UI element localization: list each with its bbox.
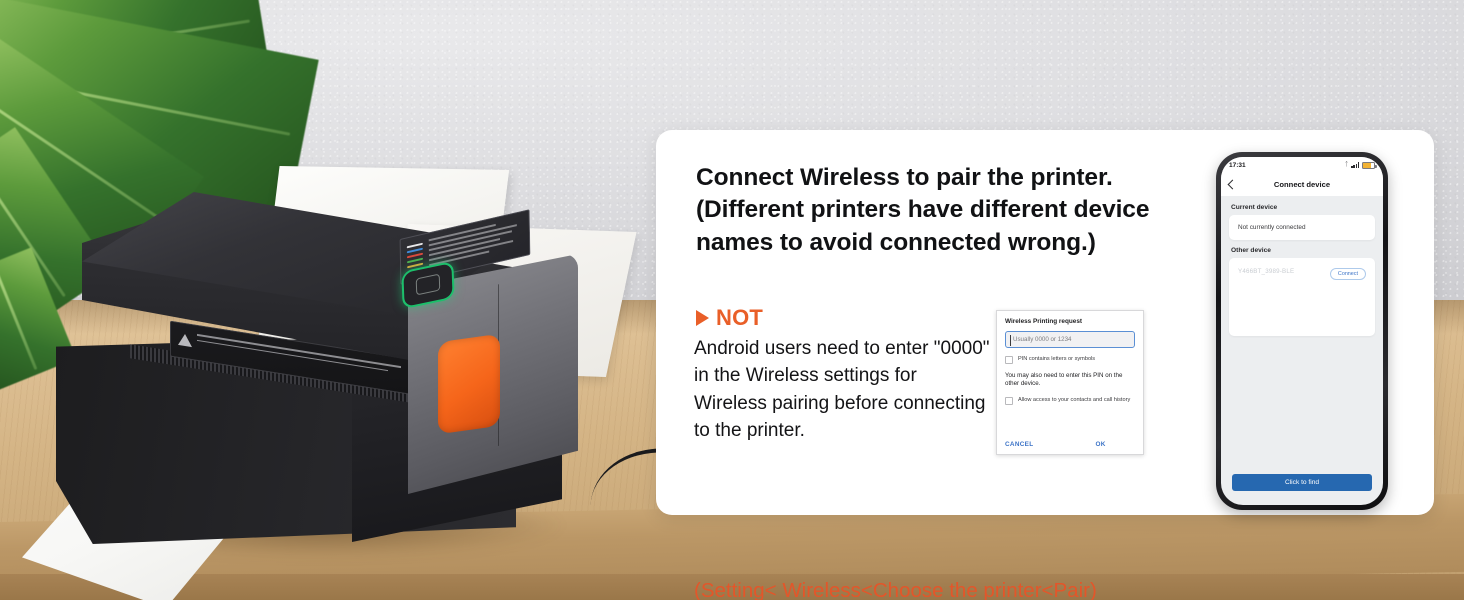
app-screen-title: Connect device: [1221, 180, 1383, 189]
bluetooth-icon: ᛏ: [1345, 162, 1349, 168]
phone-screen: 17:31 ᛏ Connect device Current device: [1221, 157, 1383, 505]
checkbox-label: PIN contains letters or symbols: [1018, 356, 1095, 363]
instruction-card: Connect Wireless to pair the printer. (D…: [656, 130, 1434, 515]
section-label-other: Other device: [1221, 240, 1383, 258]
note-label: NOT: [716, 305, 763, 331]
printer-release-button: [438, 334, 500, 435]
checkbox-row-contacts[interactable]: Allow access to your contacts and call h…: [1005, 397, 1135, 405]
checkbox-icon[interactable]: [1005, 397, 1013, 405]
checkbox-row-symbols[interactable]: PIN contains letters or symbols: [1005, 356, 1135, 364]
ok-button[interactable]: OK: [1095, 441, 1105, 448]
phone-app-bar: Connect device: [1221, 173, 1383, 197]
section-label-current: Current device: [1221, 197, 1383, 215]
other-device-row[interactable]: Y466BT_3989-BLE Connect: [1229, 258, 1375, 336]
warning-triangle-icon: [178, 333, 192, 347]
pin-placeholder: Usually 0000 or 1234: [1011, 336, 1071, 343]
phone-status-bar: 17:31 ᛏ: [1221, 157, 1383, 173]
instruction-body: Android users need to enter "0000" in th…: [694, 335, 994, 444]
battery-icon: [1362, 162, 1375, 169]
text-caret: [1010, 335, 1011, 346]
pin-input[interactable]: Usually 0000 or 1234: [1005, 331, 1135, 348]
page-title: Connect Wireless to pair the printer. (D…: [696, 162, 1166, 259]
thermal-label-printer: [52, 180, 622, 580]
checkbox-icon[interactable]: [1005, 356, 1013, 364]
signal-bars-icon: [1351, 162, 1359, 168]
indicator-legend-text: [429, 217, 526, 269]
device-name: Y466BT_3989-BLE: [1238, 268, 1294, 275]
indicator-color-bars: [407, 243, 423, 272]
dialog-title: Wireless Printing request: [1005, 318, 1135, 325]
note-heading: NOT: [696, 305, 763, 331]
dialog-note: You may also need to enter this PIN on t…: [1005, 372, 1135, 389]
status-time: 17:31: [1229, 162, 1246, 169]
pairing-dialog: Wireless Printing request Usually 0000 o…: [996, 310, 1144, 455]
printer-side-seam: [498, 274, 584, 446]
current-device-status: Not currently connected: [1238, 224, 1306, 231]
cancel-button[interactable]: CANCEL: [1005, 441, 1033, 448]
status-icons: ᛏ: [1345, 162, 1375, 169]
navigation-path-note: (Setting< Wireless<Choose the printer<Pa…: [694, 578, 1194, 600]
dialog-actions: CANCEL OK: [1005, 441, 1135, 448]
checkbox-label: Allow access to your contacts and call h…: [1018, 397, 1130, 404]
connect-button[interactable]: Connect: [1330, 268, 1366, 280]
current-device-row[interactable]: Not currently connected: [1229, 215, 1375, 240]
click-to-find-button[interactable]: Click to find: [1232, 474, 1372, 491]
triangle-bullet-icon: [696, 310, 709, 326]
phone-mockup: 17:31 ᛏ Connect device Current device: [1216, 152, 1388, 510]
promo-banner: Connect Wireless to pair the printer. (D…: [0, 0, 1464, 600]
